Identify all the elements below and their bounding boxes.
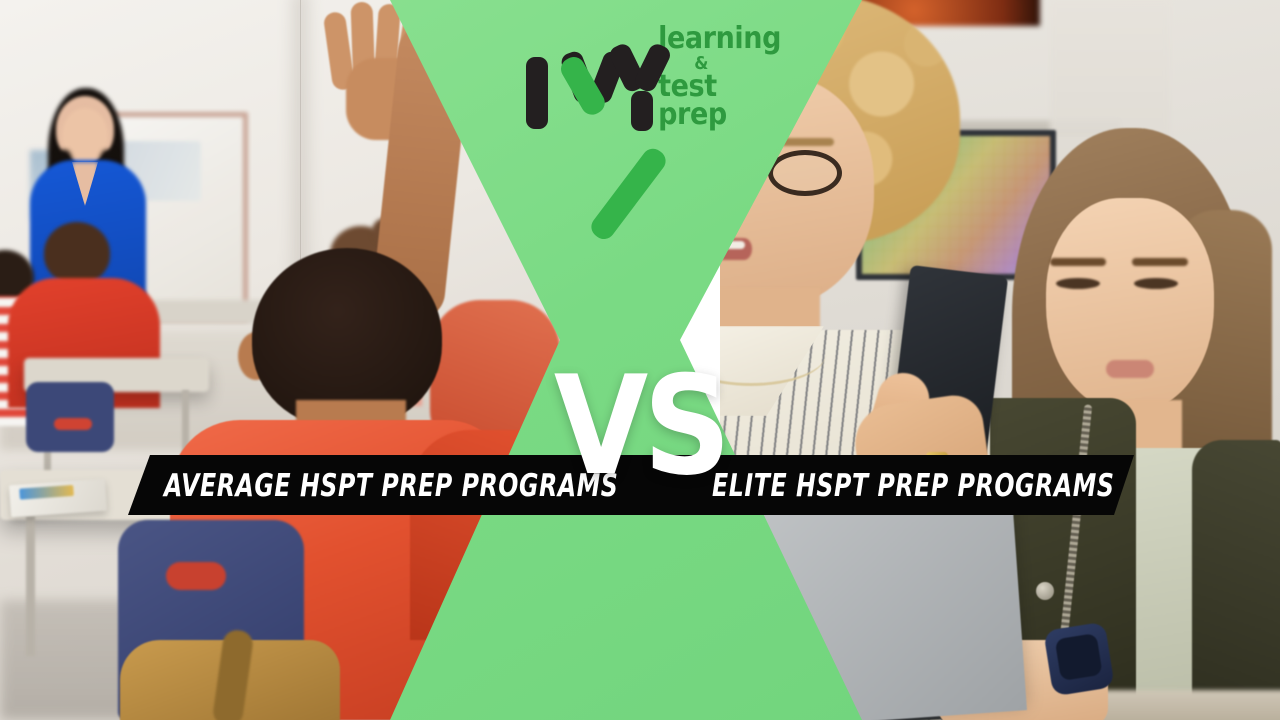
checkmark-icon	[551, 31, 671, 131]
student-lips	[1106, 360, 1154, 378]
left-label-text: AVERAGE HSPT PREP PROGRAMS	[164, 467, 618, 504]
student-red-head	[44, 222, 110, 284]
right-label-text: ELITE HSPT PREP PROGRAMS	[712, 467, 1114, 504]
right-label-banner: ELITE HSPT PREP PROGRAMS	[636, 455, 1134, 515]
student-jacket-right	[1192, 440, 1280, 720]
student-brow-left	[1050, 258, 1106, 266]
desk-leg	[26, 516, 35, 656]
smartwatch	[1043, 622, 1115, 697]
student-face	[1046, 198, 1214, 414]
student-eye-right	[1134, 278, 1178, 289]
letter-i	[526, 57, 548, 129]
comparison-graphic: learning & test prep AVERAGE HSPT PREP P…	[0, 0, 1280, 720]
jacket-snap	[1036, 582, 1054, 600]
ivy-logo[interactable]: learning & test prep	[521, 22, 781, 137]
student-brow-right	[1132, 258, 1188, 266]
tagline-line-1: learning	[658, 25, 781, 54]
left-label-banner: AVERAGE HSPT PREP PROGRAMS	[128, 455, 648, 515]
student-eye-left	[1056, 278, 1100, 289]
open-book	[9, 479, 107, 518]
chair-back-left	[26, 382, 114, 452]
ivy-wordmark	[521, 27, 646, 132]
